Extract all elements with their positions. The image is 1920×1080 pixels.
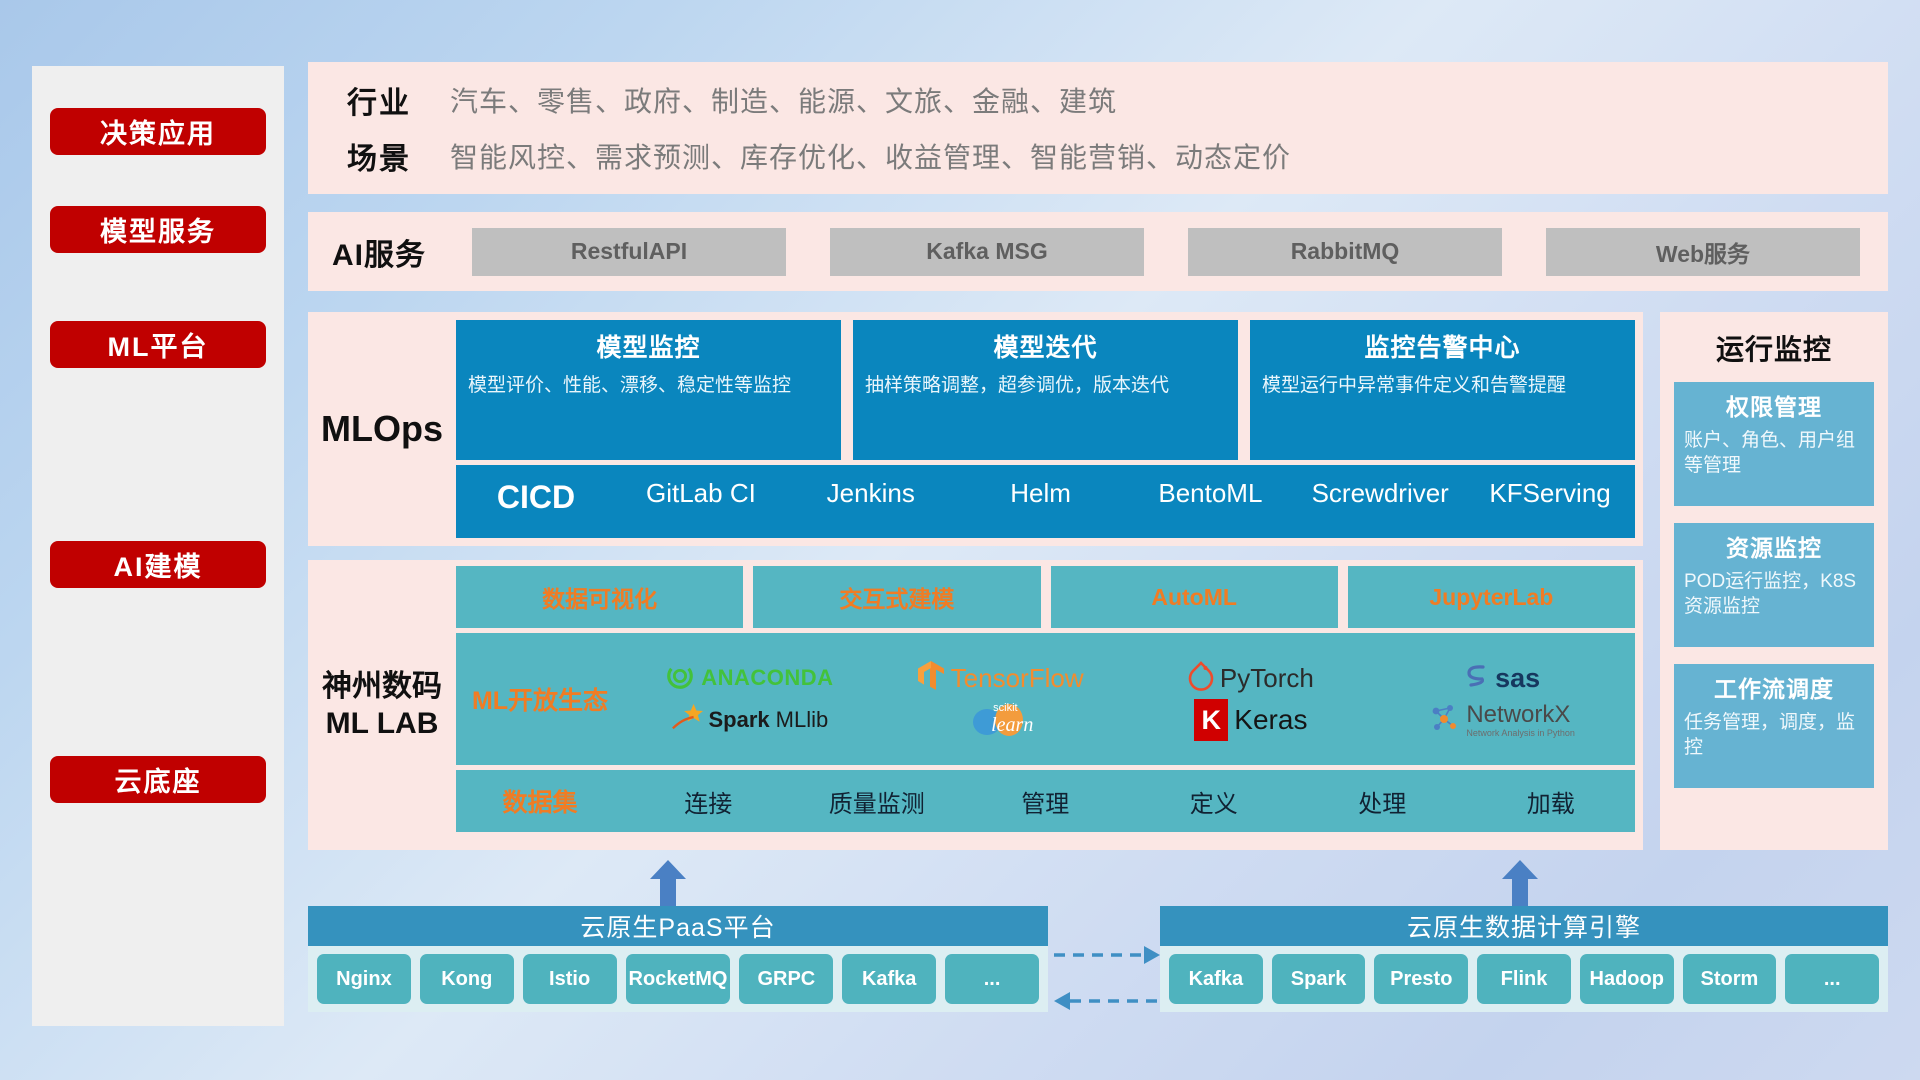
logo-spark-text: Spark	[709, 707, 770, 733]
ml-lab-tool-automl[interactable]: AutoML	[1051, 566, 1338, 628]
monitor-card-desc: 账户、角色、用户组等管理	[1684, 428, 1864, 478]
tensorflow-icon	[917, 660, 945, 697]
monitor-card-desc: POD运行监控，K8S资源监控	[1684, 569, 1864, 619]
cicd-item-helm[interactable]: Helm	[956, 479, 1126, 508]
mlops-card-alert-center[interactable]: 监控告警中心 模型运行中异常事件定义和告警提醒	[1250, 320, 1635, 460]
cicd-item-jenkins[interactable]: Jenkins	[786, 479, 956, 508]
scikit-icon: scikit learn	[969, 700, 1031, 740]
logo-pytorch[interactable]: PyTorch	[1188, 661, 1314, 696]
runtime-monitoring-title: 运行监控	[1674, 328, 1874, 368]
cloud-pill-grpc[interactable]: GRPC	[739, 954, 833, 1004]
ai-service-button-group: RestfulAPI Kafka MSG RabbitMQ Web服务	[450, 228, 1888, 276]
cicd-item-screwdriver[interactable]: Screwdriver	[1295, 479, 1465, 508]
up-arrow-compute-engine-icon	[1498, 860, 1542, 906]
scenario-row: 场景 智能风控、需求预测、库存优化、收益管理、智能营销、动态定价	[308, 128, 1888, 184]
up-arrow-paas-icon	[646, 860, 690, 906]
ai-service-button-web-service[interactable]: Web服务	[1546, 228, 1860, 276]
ml-lab-panel: 神州数码 ML LAB 数据可视化 交互式建模 AutoML JupyterLa…	[308, 560, 1643, 850]
mlops-card-title: 监控告警中心	[1262, 328, 1623, 364]
mlops-label: MLOps	[308, 312, 456, 546]
left-layer-rail: 决策应用 模型服务 ML平台 AI建模 云底座	[32, 66, 284, 1026]
ml-lab-tool-row: 数据可视化 交互式建模 AutoML JupyterLab	[456, 566, 1635, 628]
monitor-card-title: 工作流调度	[1684, 670, 1864, 704]
logo-pytorch-text: PyTorch	[1220, 663, 1314, 694]
cicd-item-bentoml[interactable]: BentoML	[1125, 479, 1295, 508]
mlops-card-model-monitoring[interactable]: 模型监控 模型评价、性能、漂移、稳定性等监控	[456, 320, 841, 460]
cloud-native-paas-pill-group: Nginx Kong Istio RocketMQ GRPC Kafka ...	[308, 946, 1048, 1012]
dataset-item-quality[interactable]: 质量监测	[793, 784, 962, 819]
cloud-pill-nginx[interactable]: Nginx	[317, 954, 411, 1004]
monitor-card-permission[interactable]: 权限管理 账户、角色、用户组等管理	[1674, 382, 1874, 506]
monitor-card-resource[interactable]: 资源监控 POD运行监控，K8S资源监控	[1674, 523, 1874, 647]
dataset-item-manage[interactable]: 管理	[961, 784, 1130, 819]
mlops-panel: MLOps 模型监控 模型评价、性能、漂移、稳定性等监控 模型迭代 抽样策略调整…	[308, 312, 1643, 546]
ml-lab-tool-jupyterlab[interactable]: JupyterLab	[1348, 566, 1635, 628]
logo-learn-text: learn	[991, 714, 1033, 737]
compute-pill-kafka[interactable]: Kafka	[1169, 954, 1263, 1004]
rail-item-ai-modeling[interactable]: AI建模	[50, 541, 266, 588]
logo-scikit-text: scikit	[993, 702, 1017, 714]
cicd-title: CICD	[456, 479, 616, 516]
cloud-pill-more[interactable]: ...	[945, 954, 1039, 1004]
networkx-icon	[1428, 702, 1460, 739]
ml-open-ecosystem-row: ML开放生态 ANACONDA	[456, 633, 1635, 765]
logo-networkx-text: NetworkX	[1466, 703, 1575, 727]
monitor-card-desc: 任务管理，调度，监控	[1684, 710, 1864, 760]
mlops-card-desc: 模型评价、性能、漂移、稳定性等监控	[468, 373, 829, 399]
mlops-card-desc: 模型运行中异常事件定义和告警提醒	[1262, 373, 1623, 399]
rail-item-model-service[interactable]: 模型服务	[50, 206, 266, 253]
rail-item-ml-platform[interactable]: ML平台	[50, 321, 266, 368]
cloud-pill-kafka[interactable]: Kafka	[842, 954, 936, 1004]
dataset-item-define[interactable]: 定义	[1130, 784, 1299, 819]
scenario-label: 场景	[308, 134, 450, 178]
ml-lab-tool-interactive-modeling[interactable]: 交互式建模	[753, 566, 1040, 628]
logo-keras-text: Keras	[1234, 704, 1307, 736]
logo-networkx-subtext: Network Analysis in Python	[1466, 729, 1575, 738]
ml-open-ecosystem-label: ML开放生态	[456, 681, 624, 717]
ai-service-button-rabbitmq[interactable]: RabbitMQ	[1188, 228, 1502, 276]
runtime-monitoring-panel: 运行监控 权限管理 账户、角色、用户组等管理 资源监控 POD运行监控，K8S资…	[1660, 312, 1888, 850]
ai-service-label: AI服务	[308, 230, 450, 274]
industry-row: 行业 汽车、零售、政府、制造、能源、文旅、金融、建筑	[308, 72, 1888, 128]
ml-lab-label-line1: 神州数码	[322, 668, 442, 706]
industry-label: 行业	[308, 78, 450, 122]
cloud-native-paas-block: 云原生PaaS平台 Nginx Kong Istio RocketMQ GRPC…	[308, 906, 1048, 1012]
logo-sas[interactable]: sas	[1463, 662, 1540, 695]
mlops-card-desc: 抽样策略调整，超参调优，版本迭代	[865, 373, 1226, 399]
dataset-item-process[interactable]: 处理	[1298, 784, 1467, 819]
anaconda-icon	[665, 661, 695, 696]
ml-lab-label: 神州数码 ML LAB	[308, 560, 456, 850]
sas-icon	[1463, 662, 1489, 695]
mlops-card-title: 模型迭代	[865, 328, 1226, 364]
cloud-native-compute-engine-pill-group: Kafka Spark Presto Flink Hadoop Storm ..…	[1160, 946, 1888, 1012]
logo-mllib-text: MLlib	[776, 707, 829, 733]
cloud-native-paas-title: 云原生PaaS平台	[308, 906, 1048, 946]
logo-spark-mllib[interactable]: Spark MLlib	[671, 703, 829, 738]
scenario-values: 智能风控、需求预测、库存优化、收益管理、智能营销、动态定价	[450, 136, 1291, 176]
mlops-card-title: 模型监控	[468, 328, 829, 364]
dataset-label: 数据集	[456, 783, 624, 819]
keras-icon: K	[1194, 699, 1228, 741]
dashed-arrow-left-icon	[1052, 990, 1162, 1017]
ai-service-button-kafka-msg[interactable]: Kafka MSG	[830, 228, 1144, 276]
industry-values: 汽车、零售、政府、制造、能源、文旅、金融、建筑	[450, 80, 1117, 120]
pytorch-icon	[1188, 661, 1214, 696]
monitor-card-title: 资源监控	[1684, 529, 1864, 563]
ai-service-button-restfulapi[interactable]: RestfulAPI	[472, 228, 786, 276]
ml-lab-tool-data-visualization[interactable]: 数据可视化	[456, 566, 743, 628]
logo-networkx[interactable]: NetworkX Network Analysis in Python	[1428, 702, 1575, 739]
spark-icon	[671, 703, 703, 738]
logo-anaconda[interactable]: ANACONDA	[665, 661, 833, 696]
dataset-item-load[interactable]: 加载	[1467, 784, 1636, 819]
logo-anaconda-text: ANACONDA	[701, 665, 833, 691]
ai-service-panel: AI服务 RestfulAPI Kafka MSG RabbitMQ Web服务	[308, 212, 1888, 291]
cicd-bar: CICD GitLab CI Jenkins Helm BentoML Scre…	[456, 465, 1635, 539]
compute-pill-more[interactable]: ...	[1785, 954, 1879, 1004]
compute-pill-presto[interactable]: Presto	[1374, 954, 1468, 1004]
mlops-card-group: 模型监控 模型评价、性能、漂移、稳定性等监控 模型迭代 抽样策略调整，超参调优，…	[456, 320, 1635, 460]
compute-pill-hadoop[interactable]: Hadoop	[1580, 954, 1674, 1004]
compute-pill-spark[interactable]: Spark	[1272, 954, 1366, 1004]
compute-pill-storm[interactable]: Storm	[1683, 954, 1777, 1004]
cloud-native-compute-engine-title: 云原生数据计算引擎	[1160, 906, 1888, 946]
cloud-pill-istio[interactable]: Istio	[523, 954, 617, 1004]
logo-sas-text: sas	[1495, 663, 1540, 694]
dashed-arrow-right-icon	[1052, 944, 1162, 971]
dataset-row: 数据集 连接 质量监测 管理 定义 处理 加载	[456, 770, 1635, 832]
logo-scikit-learn[interactable]: scikit learn	[969, 700, 1031, 740]
cicd-item-gitlab-ci[interactable]: GitLab CI	[616, 479, 786, 508]
monitor-card-title: 权限管理	[1684, 388, 1864, 422]
logo-keras[interactable]: K Keras	[1194, 699, 1307, 741]
logo-tensorflow-text: TensorFlow	[951, 663, 1084, 694]
industry-scenario-panel: 行业 汽车、零售、政府、制造、能源、文旅、金融、建筑 场景 智能风控、需求预测、…	[308, 62, 1888, 194]
rail-item-cloud-base[interactable]: 云底座	[50, 756, 266, 803]
dataset-item-connect[interactable]: 连接	[624, 784, 793, 819]
cloud-native-compute-engine-block: 云原生数据计算引擎 Kafka Spark Presto Flink Hadoo…	[1160, 906, 1888, 1012]
cicd-item-kfserving[interactable]: KFServing	[1465, 479, 1635, 508]
mlops-card-model-iteration[interactable]: 模型迭代 抽样策略调整，超参调优，版本迭代	[853, 320, 1238, 460]
cloud-pill-kong[interactable]: Kong	[420, 954, 514, 1004]
compute-pill-flink[interactable]: Flink	[1477, 954, 1571, 1004]
monitor-card-workflow[interactable]: 工作流调度 任务管理，调度，监控	[1674, 664, 1874, 788]
rail-item-decision-app[interactable]: 决策应用	[50, 108, 266, 155]
ml-lab-label-line2: ML LAB	[326, 705, 439, 743]
logo-tensorflow[interactable]: TensorFlow	[917, 660, 1084, 697]
cloud-pill-rocketmq[interactable]: RocketMQ	[626, 954, 731, 1004]
